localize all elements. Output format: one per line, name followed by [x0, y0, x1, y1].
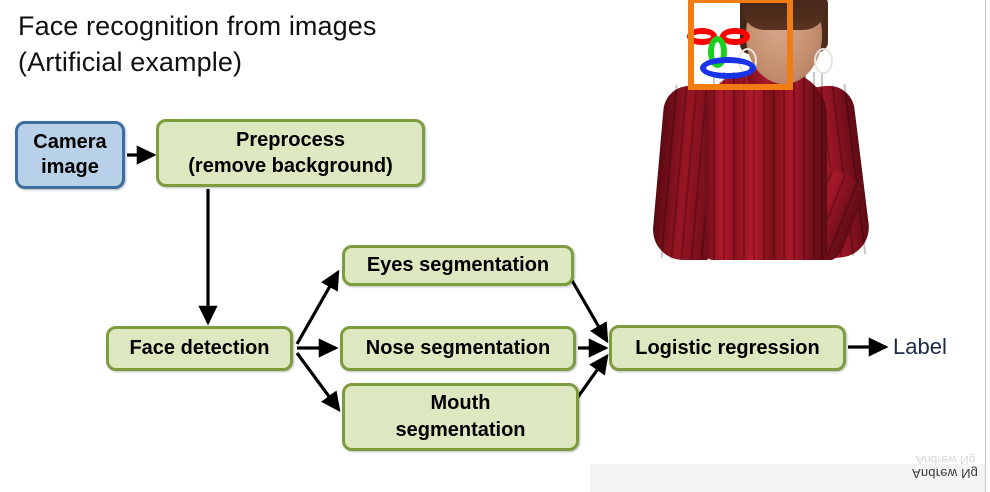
slide-right-rule	[985, 0, 986, 492]
face-detection-bounding-box	[688, 0, 793, 90]
face-photo	[650, 0, 915, 260]
page-title-line-1: Face recognition from images	[18, 8, 638, 44]
node-nose-segmentation-label: Nose segmentation	[366, 337, 550, 360]
watermark-andrew-ng: Andrew Ng	[912, 466, 978, 481]
node-logistic-regression-label: Logistic regression	[635, 337, 820, 360]
node-face-detection-label: Face detection	[129, 337, 269, 360]
watermark-faint: Andrew Ng	[916, 453, 975, 467]
node-eyes-segmentation-label: Eyes segmentation	[367, 254, 549, 277]
node-nose-segmentation[interactable]: Nose segmentation	[340, 326, 576, 371]
arrow-face-to-eyes	[297, 272, 338, 344]
sweater-torso	[705, 72, 827, 260]
node-mouth-segmentation[interactable]: Mouth segmentation	[342, 383, 579, 451]
node-camera-image[interactable]: Camera image	[15, 121, 125, 189]
node-mouth-segmentation-label: Mouth segmentation	[395, 390, 525, 444]
output-label: Label	[893, 334, 947, 360]
node-preprocess-label: Preprocess (remove background)	[188, 127, 392, 179]
earring-right	[814, 48, 833, 74]
page-title: Face recognition from images (Artificial…	[18, 8, 638, 80]
slide-canvas: Face recognition from images (Artificial…	[0, 0, 990, 492]
node-eyes-segmentation[interactable]: Eyes segmentation	[342, 245, 574, 286]
node-logistic-regression[interactable]: Logistic regression	[609, 325, 846, 371]
arrow-face-to-mouth	[297, 353, 339, 410]
node-face-detection[interactable]: Face detection	[106, 326, 293, 371]
arrow-eyes-to-logreg	[570, 277, 607, 341]
node-camera-image-label: Camera image	[33, 130, 106, 180]
node-preprocess[interactable]: Preprocess (remove background)	[156, 119, 425, 187]
page-title-line-2: (Artificial example)	[18, 44, 638, 80]
